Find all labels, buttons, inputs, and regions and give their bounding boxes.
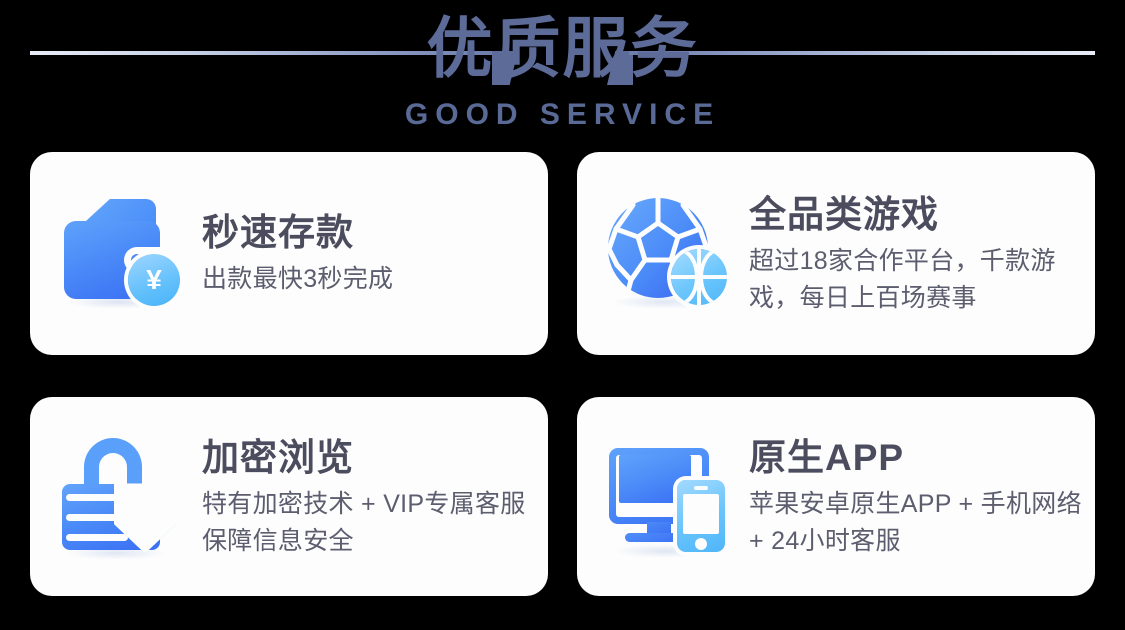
phone-home-button: [695, 538, 707, 550]
feature-card-title: 加密浏览: [202, 436, 542, 480]
feature-card-description: 苹果安卓原生APP + 手机网络 + 24小时客服: [749, 486, 1089, 560]
plus-bar-horizontal: [134, 508, 158, 516]
feature-card-text: 全品类游戏 超过18家合作平台，千款游戏，每日上百场赛事: [749, 191, 1089, 317]
yen-coin-icon: ¥: [128, 254, 180, 306]
feature-card-text: 加密浏览 特有加密技术 + VIP专属客服保障信息安全: [202, 434, 542, 560]
feature-card-text: 秒速存款 出款最快3秒完成: [202, 209, 542, 298]
soccer-basketball-icon: [605, 191, 731, 317]
monitor-phone-icon: [605, 434, 731, 560]
feature-card-title: 全品类游戏: [749, 193, 1089, 237]
lock-stripe: [66, 534, 128, 541]
plus-icon: [134, 500, 158, 524]
feature-card-description: 超过18家合作平台，千款游戏，每日上百场赛事: [749, 243, 1089, 317]
basketball-curve-right: [699, 249, 727, 305]
feature-card-text: 原生APP 苹果安卓原生APP + 手机网络 + 24小时客服: [749, 434, 1089, 560]
feature-card-description: 特有加密技术 + VIP专属客服保障信息安全: [202, 486, 542, 560]
phone-speaker: [694, 486, 708, 490]
feature-card-native-app[interactable]: 原生APP 苹果安卓原生APP + 手机网络 + 24小时客服: [577, 397, 1095, 596]
feature-card-description: 出款最快3秒完成: [202, 261, 542, 298]
feature-card-grid: ¥ 秒速存款 出款最快3秒完成: [30, 152, 1095, 596]
feature-card-instant-deposit[interactable]: ¥ 秒速存款 出款最快3秒完成: [30, 152, 548, 355]
page-header: 优质服务 GOOD SERVICE: [0, 0, 1125, 150]
basketball-curve-left: [671, 249, 699, 305]
basketball-icon: [671, 249, 727, 305]
page-subtitle: GOOD SERVICE: [0, 98, 1125, 132]
page-title: 优质服务: [0, 10, 1125, 86]
feature-card-title: 秒速存款: [202, 211, 542, 255]
lock-shield-icon: [58, 434, 184, 560]
wallet-icon: ¥: [58, 191, 184, 317]
feature-card-title: 原生APP: [749, 436, 1089, 480]
feature-card-all-games[interactable]: 全品类游戏 超过18家合作平台，千款游戏，每日上百场赛事: [577, 152, 1095, 355]
feature-card-encrypted-browsing[interactable]: 加密浏览 特有加密技术 + VIP专属客服保障信息安全: [30, 397, 548, 596]
smartphone-icon: [677, 480, 725, 552]
